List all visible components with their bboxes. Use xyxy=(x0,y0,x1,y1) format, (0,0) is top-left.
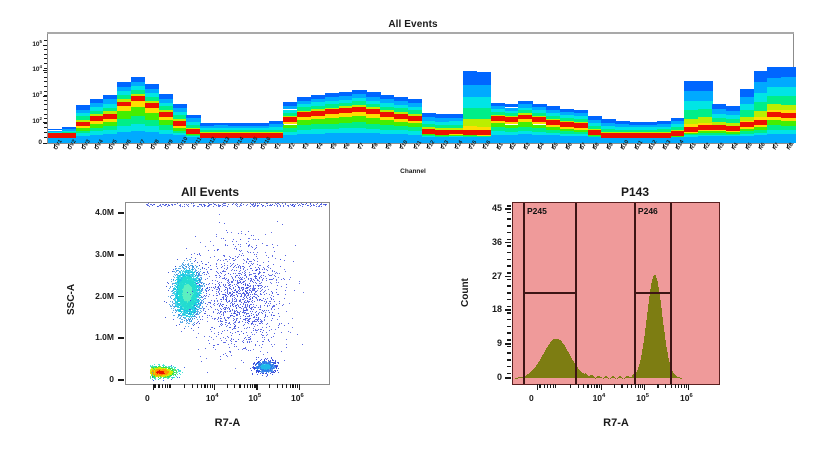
scatter-event-dot xyxy=(174,367,175,368)
spectrum-density-band xyxy=(740,89,754,97)
spectrum-channel-column xyxy=(463,33,477,143)
spectrum-density-band xyxy=(684,91,698,101)
spectrum-density-band xyxy=(463,108,477,119)
spectrum-channel-column xyxy=(325,33,339,143)
scatter-event-dot xyxy=(163,380,164,381)
scatter-y-tick-label: 3.0M xyxy=(70,249,114,259)
scatter-event-dot xyxy=(156,375,157,376)
scatter-event-dot xyxy=(201,275,202,276)
spectrum-density-band xyxy=(477,72,491,85)
spectrum-channel-column xyxy=(76,33,90,143)
scatter-event-dot xyxy=(185,326,186,327)
spectrum-channel-column xyxy=(671,33,685,143)
scatter-y-tick-label: 1.0M xyxy=(70,332,114,342)
spectrum-channel-column xyxy=(518,33,532,143)
spectrum-density-band xyxy=(684,81,698,92)
spectrum-density-band xyxy=(560,136,574,143)
spectrum-density-band xyxy=(463,97,477,108)
scatter-event-dot xyxy=(153,371,154,372)
scatter-event-dot xyxy=(196,270,197,271)
scatter-event-dot xyxy=(162,365,163,366)
spectrum-channel-column xyxy=(131,33,145,143)
spectrum-density-band xyxy=(767,96,781,105)
spectrum-density-band xyxy=(477,119,491,126)
scatter-event-dot xyxy=(163,367,164,368)
scatter-event-dot xyxy=(175,275,176,276)
spectrum-density-band xyxy=(117,111,131,118)
scatter-y-tick-mark xyxy=(118,296,124,298)
scatter-event-dot xyxy=(199,316,200,317)
scatter-event-dot xyxy=(197,266,198,267)
spectrum-channel-column xyxy=(615,33,629,143)
scatter-event-dot xyxy=(199,323,200,324)
scatter-event-dot xyxy=(198,314,199,315)
spectrum-plot-area xyxy=(47,34,794,144)
scatter-event-dot xyxy=(172,312,173,313)
scatter-event-dot xyxy=(191,328,192,329)
scatter-event-dot xyxy=(199,272,200,273)
scatter-event-dot xyxy=(194,322,195,323)
spectrum-channel-column xyxy=(242,33,256,143)
scatter-event-dot xyxy=(197,262,198,263)
scatter-event-dot xyxy=(163,365,164,366)
scatter-event-dot xyxy=(173,295,174,296)
scatter-y-tick-mark xyxy=(118,379,124,381)
scatter-event-dot xyxy=(174,377,175,378)
spectrum-density-band xyxy=(546,135,560,143)
scatter-event-dot xyxy=(179,377,180,378)
scatter-event-dot xyxy=(180,268,181,269)
spectrum-channel-column xyxy=(297,33,311,143)
spectrum-density-band xyxy=(684,101,698,110)
scatter-event-dot xyxy=(194,324,195,325)
spectrum-channel-column xyxy=(352,33,366,143)
spectrum-density-band xyxy=(767,67,781,77)
scatter-event-dot xyxy=(198,268,199,269)
scatter-event-dot xyxy=(186,258,187,259)
spectrum-density-band xyxy=(491,135,505,143)
spectrum-density-band xyxy=(754,93,768,102)
scatter-y-tick-mark xyxy=(118,337,124,339)
spectrum-channel-column xyxy=(228,33,242,143)
scatter-event-dot xyxy=(197,319,198,320)
scatter-event-dot xyxy=(194,316,195,317)
spectrum-density-band xyxy=(477,108,491,119)
spectrum-channel-column xyxy=(449,33,463,143)
scatter-event-dot xyxy=(164,377,165,378)
spectrum-density-band xyxy=(463,85,477,97)
scatter-event-dot xyxy=(175,372,176,373)
spectrum-channel-column xyxy=(200,33,214,143)
scatter-event-dot xyxy=(170,374,171,375)
spectrum-channel-column xyxy=(186,33,200,143)
spectrum-density-band xyxy=(117,119,131,126)
scatter-event-dot xyxy=(175,268,176,269)
spectrum-channel-column xyxy=(712,33,726,143)
spectrum-density-band xyxy=(698,101,712,109)
spectrum-density-band xyxy=(131,107,145,116)
scatter-event-dot xyxy=(168,283,169,284)
spectrum-channel-column xyxy=(657,33,671,143)
scatter-event-dot xyxy=(188,326,189,327)
spectrum-channel-column xyxy=(283,33,297,143)
scatter-event-dot xyxy=(180,374,181,375)
spectrum-channel-column xyxy=(48,33,62,143)
spectrum-channel-column xyxy=(366,33,380,143)
spectrum-density-band xyxy=(477,85,491,97)
spectrum-density-band xyxy=(311,134,325,143)
spectrum-panel-title: All Events xyxy=(0,19,826,30)
scatter-y-tick-mark xyxy=(118,254,124,256)
scatter-event-dot xyxy=(191,265,192,266)
scatter-event-dot xyxy=(174,307,175,308)
spectrum-density-band xyxy=(781,96,795,105)
spectrum-channel-column xyxy=(698,33,712,143)
scatter-event-dot xyxy=(181,322,182,323)
spectrum-channel-column xyxy=(601,33,615,143)
scatter-event-dot xyxy=(158,373,159,374)
spectrum-channel-column xyxy=(643,33,657,143)
scatter-event-dot xyxy=(189,266,190,267)
scatter-event-dot xyxy=(179,324,180,325)
spectrum-density-band xyxy=(767,87,781,96)
scatter-event-dot xyxy=(199,300,200,301)
spectrum-channel-column xyxy=(256,33,270,143)
scatter-event-dot xyxy=(168,377,169,378)
scatter-event-dot xyxy=(183,262,184,263)
spectrum-y-tick-label: 103 xyxy=(16,92,42,99)
scatter-event-dot xyxy=(166,375,167,376)
spectrum-density-band xyxy=(754,82,768,92)
spectrum-channel-column xyxy=(394,33,408,143)
scatter-event-dot xyxy=(155,369,156,370)
spectrum-channel-column xyxy=(477,33,491,143)
spectrum-density-band xyxy=(463,71,477,84)
spectrum-channel-column xyxy=(684,33,698,143)
spectrum-channel-column xyxy=(269,33,283,143)
scatter-event-dot xyxy=(190,261,191,262)
spectrum-density-band xyxy=(145,113,159,120)
scatter-event-dot xyxy=(168,272,169,273)
spectrum-channel-column xyxy=(422,33,436,143)
spectrum-density-band xyxy=(463,119,477,126)
scatter-event-dot xyxy=(173,369,174,370)
scatter-event-dot xyxy=(155,378,156,379)
spectrum-channel-label: V3 xyxy=(302,142,311,151)
scatter-event-dot xyxy=(198,327,199,328)
spectrum-channel-column xyxy=(311,33,325,143)
spectrum-density-band xyxy=(781,67,795,78)
spectrum-density-band xyxy=(754,71,768,82)
spectrum-density-band xyxy=(131,116,145,124)
spectrum-density-band xyxy=(684,110,698,119)
scatter-event-dot xyxy=(170,287,171,288)
spectrum-channel-column xyxy=(159,33,173,143)
scatter-event-dot xyxy=(160,372,162,374)
spectrum-channel-column xyxy=(754,33,768,143)
spectrum-density-band xyxy=(726,136,740,143)
spectrum-channel-column xyxy=(173,33,187,143)
scatter-event-dot xyxy=(184,367,185,368)
scatter-event-dot xyxy=(209,283,210,284)
scatter-y-tick-label: 4.0M xyxy=(70,207,114,217)
scatter-event-dot xyxy=(176,271,177,272)
scatter-event-dot xyxy=(192,324,193,325)
scatter-event-dot xyxy=(180,322,181,323)
spectrum-channel-column xyxy=(560,33,574,143)
scatter-event-dot xyxy=(155,379,156,380)
scatter-event-dot xyxy=(184,260,185,261)
flow-cytometry-figure: All Events Intensity 0102103104105 UV1UV… xyxy=(0,0,826,451)
scatter-event-dot xyxy=(202,273,203,274)
spectrum-density-band xyxy=(297,134,311,143)
spectrum-channel-column xyxy=(90,33,104,143)
scatter-event-dot xyxy=(205,303,206,304)
scatter-event-dot xyxy=(204,268,205,269)
scatter-event-dot xyxy=(197,254,198,255)
spectrum-channel-column xyxy=(767,33,781,143)
spectrum-density-band xyxy=(698,91,712,100)
scatter-event-dot xyxy=(171,279,172,280)
spectrum-channel-column xyxy=(532,33,546,143)
spectrum-channel-column xyxy=(491,33,505,143)
scatter-event-dot xyxy=(200,319,201,320)
spectrum-channel-column xyxy=(505,33,519,143)
scatter-event-dot xyxy=(178,273,179,274)
spectrum-channel-column xyxy=(546,33,560,143)
scatter-event-dot xyxy=(199,317,200,318)
spectrum-density-band xyxy=(698,109,712,117)
spectrum-channel-column xyxy=(629,33,643,143)
spectrum-density-band xyxy=(380,134,394,143)
scatter-y-tick-label: 2.0M xyxy=(70,291,114,301)
scatter-event-dot xyxy=(157,367,158,368)
scatter-event-dot xyxy=(182,372,183,373)
scatter-y-tick-label: 0 xyxy=(70,374,114,384)
spectrum-density-band xyxy=(574,136,588,143)
scatter-event-dot xyxy=(182,322,183,323)
scatter-event-dot xyxy=(172,284,173,285)
spectrum-density-band xyxy=(781,87,795,96)
scatter-event-dot xyxy=(176,325,177,326)
spectrum-channel-column xyxy=(726,33,740,143)
spectrum-y-tick-label: 104 xyxy=(16,66,42,73)
scatter-event-dot xyxy=(187,260,188,261)
spectrum-density-band xyxy=(740,97,754,104)
spectrum-x-axis-label: Channel xyxy=(0,168,826,175)
spectrum-density-band xyxy=(740,136,754,143)
spectrum-channel-column xyxy=(117,33,131,143)
scatter-event-dot xyxy=(169,366,170,367)
scatter-event-dot xyxy=(200,308,201,309)
scatter-event-dot xyxy=(201,311,202,312)
scatter-event-dot xyxy=(175,312,176,313)
spectrum-channel-column xyxy=(408,33,422,143)
scatter-event-dot xyxy=(165,317,166,318)
spectrum-density-band xyxy=(767,78,781,88)
scatter-event-dot xyxy=(158,379,159,380)
spectrum-channel-column xyxy=(435,33,449,143)
scatter-event-dot xyxy=(175,367,176,368)
scatter-event-dot xyxy=(169,288,170,289)
spectrum-channel-column xyxy=(574,33,588,143)
spectrum-density-band xyxy=(477,97,491,108)
scatter-event-dot xyxy=(175,312,176,313)
scatter-event-dot xyxy=(164,301,165,302)
spectrum-density-band xyxy=(754,102,768,111)
scatter-event-dot xyxy=(202,286,203,287)
spectrum-channel-label: V9 xyxy=(385,142,394,151)
spectrum-density-band xyxy=(131,124,145,131)
spectrum-density-band xyxy=(325,133,339,143)
scatter-event-dot xyxy=(184,328,185,329)
spectrum-channel-column xyxy=(103,33,117,143)
scatter-event-dot xyxy=(177,377,178,378)
spectrum-channel-column xyxy=(214,33,228,143)
scatter-event-dot xyxy=(203,292,204,293)
scatter-plot-panel: All Events SSC-A 01.0M2.0M3.0M4.0M 01041… xyxy=(60,185,360,440)
spectrum-density-band xyxy=(781,77,795,87)
spectrum-channel-column xyxy=(740,33,754,143)
spectrum-channel-column xyxy=(339,33,353,143)
spectrum-density-band xyxy=(366,133,380,143)
spectrum-y-tick-label: 102 xyxy=(16,118,42,125)
scatter-event-dot xyxy=(200,312,201,313)
spectrum-y-tick-label: 105 xyxy=(16,41,42,48)
scatter-event-dot xyxy=(162,374,163,375)
spectrum-channel-column xyxy=(145,33,159,143)
scatter-event-dot xyxy=(171,379,172,380)
spectrum-channel-column xyxy=(781,33,795,143)
scatter-event-dot xyxy=(198,273,199,274)
scatter-event-dot xyxy=(188,318,189,319)
scatter-plot-area xyxy=(125,202,330,385)
scatter-event-dot xyxy=(184,320,185,321)
spectrum-density-band xyxy=(698,81,712,91)
spectrum-channel-column xyxy=(588,33,602,143)
scatter-event-dot xyxy=(171,295,172,296)
scatter-event-dot xyxy=(195,314,196,315)
spectrum-density-panel: All Events Intensity 0102103104105 UV1UV… xyxy=(0,0,826,182)
spectrum-y-tick-label: 0 xyxy=(16,139,42,146)
scatter-event-dot xyxy=(176,311,177,312)
scatter-event-dot xyxy=(194,318,195,319)
spectrum-channel-column xyxy=(62,33,76,143)
scatter-event-dot xyxy=(153,380,154,381)
spectrum-channel-column xyxy=(380,33,394,143)
scatter-event-dot xyxy=(165,376,166,377)
scatter-panel-title: All Events xyxy=(60,185,360,199)
scatter-event-dot xyxy=(175,300,176,301)
scatter-event-dot xyxy=(160,374,161,375)
scatter-y-tick-mark xyxy=(118,212,124,214)
scatter-event-dot xyxy=(189,323,190,324)
